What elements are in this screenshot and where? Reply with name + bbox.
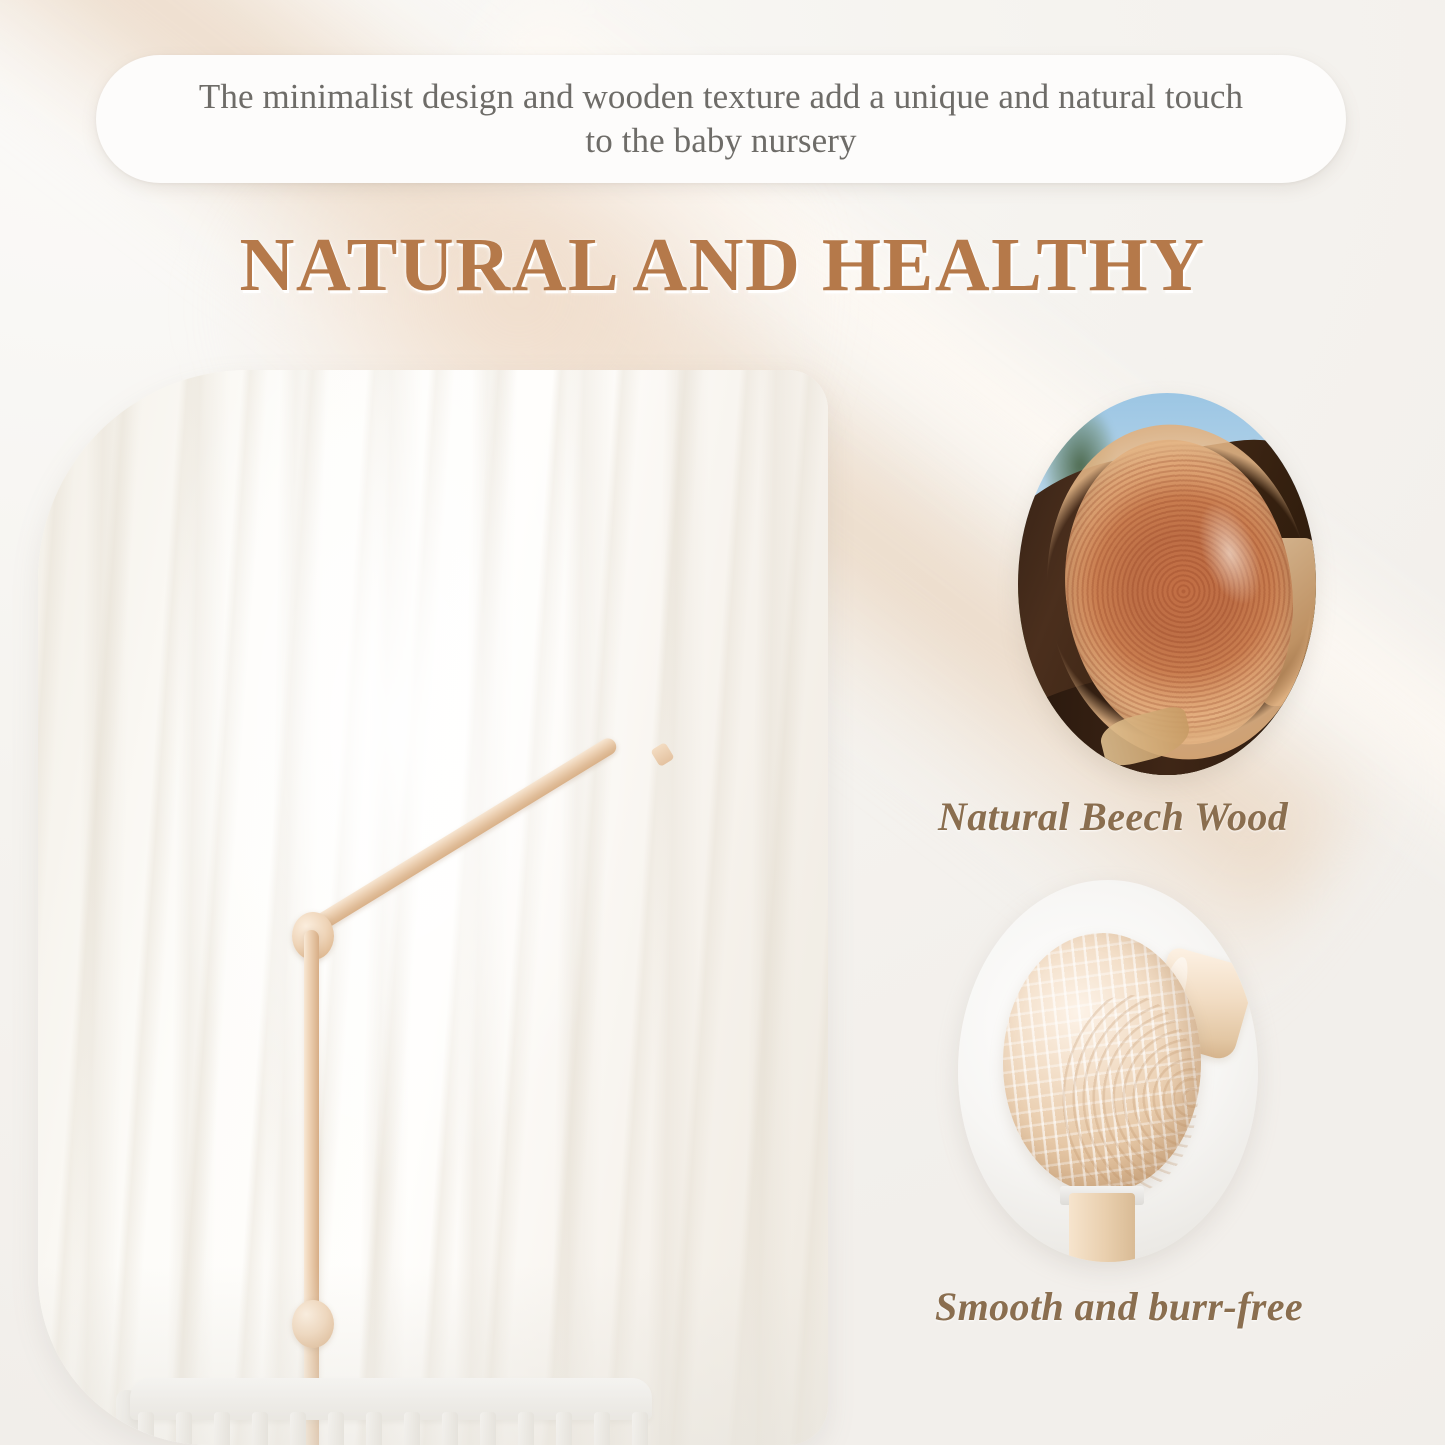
hero-photo-inner xyxy=(38,370,828,1445)
feature-caption-beech-wood: Natural Beech Wood xyxy=(938,793,1288,840)
feature-image-ball-joint xyxy=(958,880,1258,1262)
ball-grain-rings xyxy=(1060,995,1198,1194)
page-title: NATURAL AND HEALTHY xyxy=(0,222,1445,309)
feature-image-beech-log xyxy=(1018,393,1316,775)
tagline-text: The minimalist design and wooden texture… xyxy=(191,75,1251,163)
hero-bottom-shadow xyxy=(38,1265,828,1445)
hero-product-photo xyxy=(38,370,828,1445)
feature-caption-burr-free: Smooth and burr-free xyxy=(935,1283,1303,1330)
ball-lower-stem xyxy=(1069,1193,1135,1262)
tagline-banner: The minimalist design and wooden texture… xyxy=(96,55,1346,183)
